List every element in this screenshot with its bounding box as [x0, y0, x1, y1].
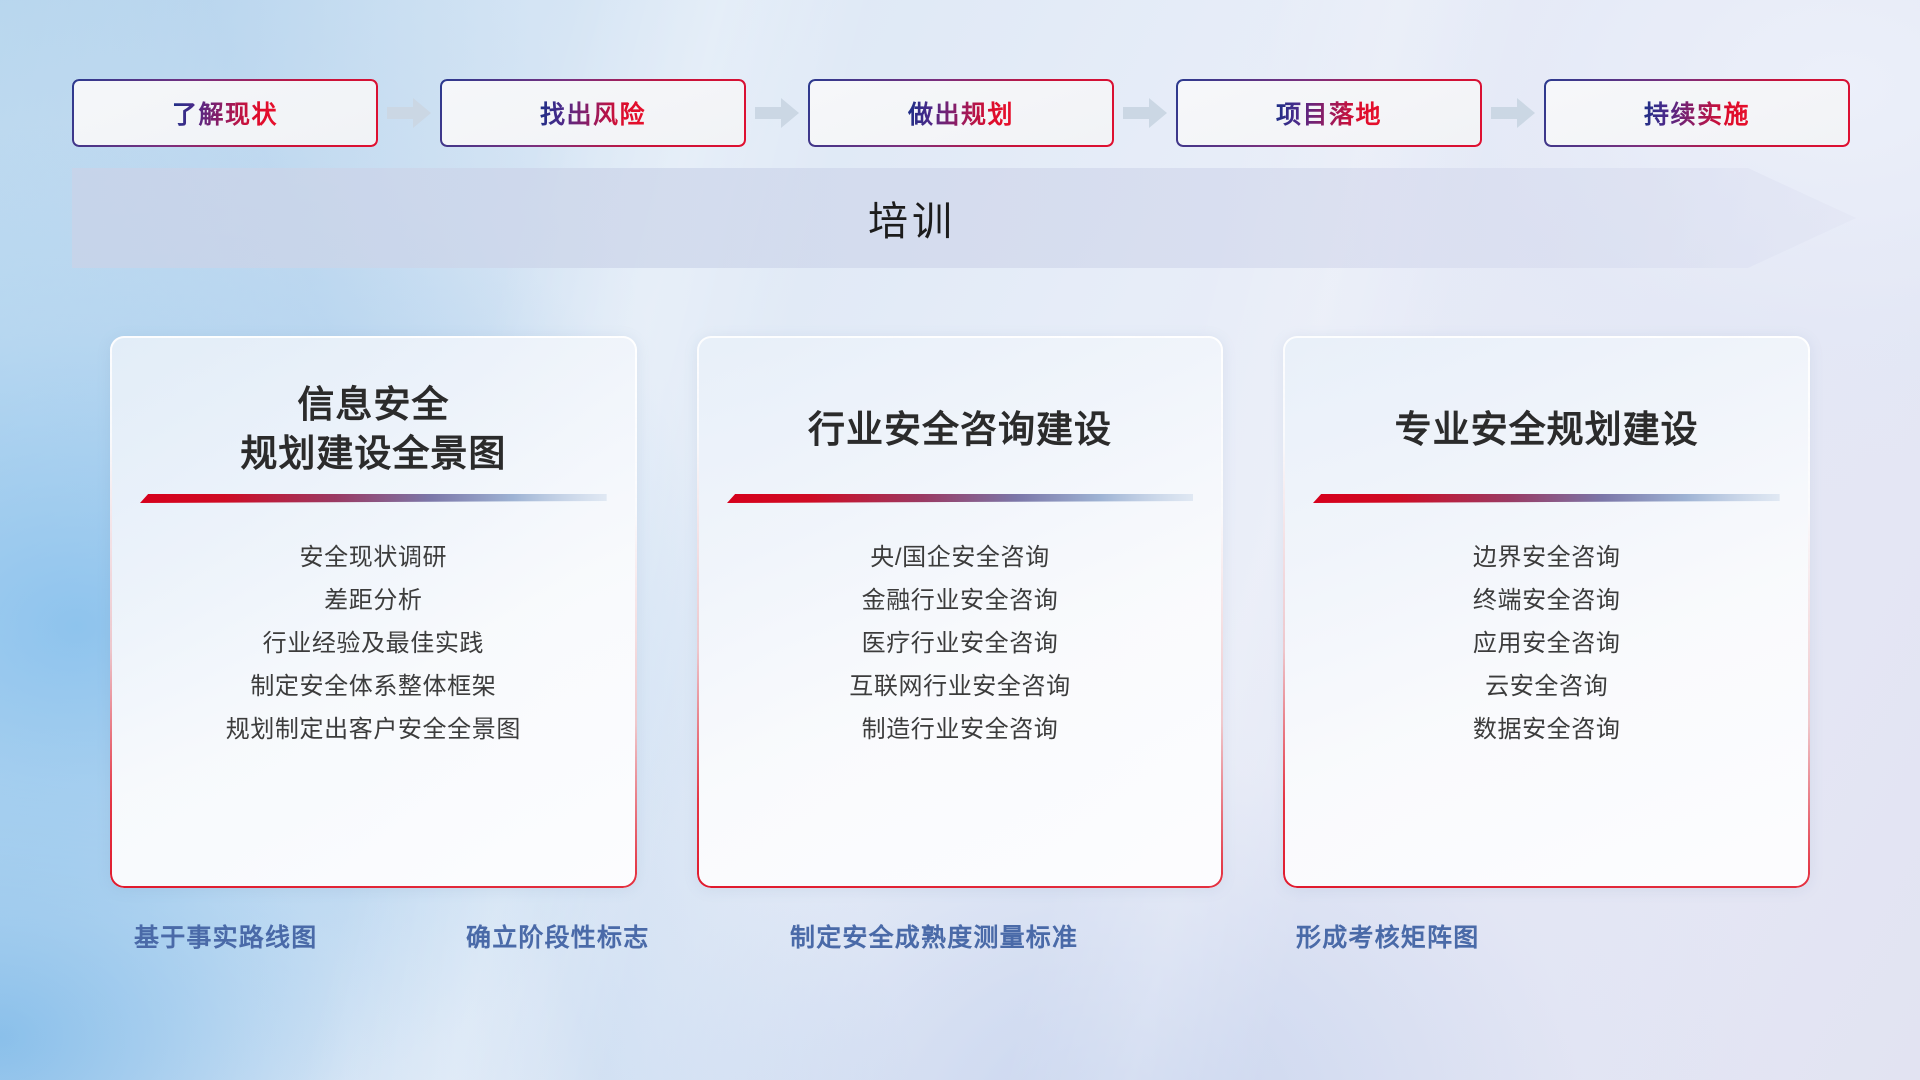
list-item: 制定安全体系整体框架	[250, 665, 496, 708]
card-title: 专业安全规划建设	[1395, 380, 1699, 480]
card-divider	[1313, 490, 1780, 506]
list-item: 边界安全咨询	[1473, 536, 1621, 579]
list-item: 互联网行业安全咨询	[849, 665, 1070, 708]
process-step-label: 项目落地	[1276, 95, 1382, 131]
process-step-4[interactable]: 项目落地	[1176, 79, 1482, 147]
card-divider	[140, 490, 607, 506]
right-arrow-icon	[1114, 98, 1176, 128]
list-item: 金融行业安全咨询	[862, 579, 1059, 622]
list-item: 安全现状调研	[300, 536, 448, 579]
right-arrow-icon	[1482, 98, 1544, 128]
process-step-label: 做出规划	[908, 95, 1014, 131]
process-step-1[interactable]: 了解现状	[72, 79, 378, 147]
list-item: 央/国企安全咨询	[870, 536, 1049, 579]
card-2[interactable]: 行业安全咨询建设	[697, 336, 1224, 888]
list-item: 差距分析	[324, 579, 422, 622]
card-item-list: 边界安全咨询 终端安全咨询 应用安全咨询 云安全咨询 数据安全咨询	[1313, 536, 1780, 751]
card-title: 行业安全咨询建设	[808, 380, 1112, 480]
card-3[interactable]: 专业安全规划建设	[1283, 336, 1810, 888]
list-item: 终端安全咨询	[1473, 579, 1621, 622]
list-item: 医疗行业安全咨询	[862, 622, 1059, 665]
footer-label-1: 基于事实路线图	[134, 918, 317, 954]
slide-canvas: 了解现状 找出风险 做出规划 项目落地	[0, 0, 1920, 1080]
list-item: 云安全咨询	[1485, 665, 1608, 708]
process-step-label: 持续实施	[1644, 95, 1750, 131]
list-item: 行业经验及最佳实践	[263, 622, 484, 665]
banner-title: 培训	[72, 168, 1752, 268]
list-item: 应用安全咨询	[1473, 622, 1621, 665]
process-step-5[interactable]: 持续实施	[1544, 79, 1850, 147]
right-arrow-icon	[378, 98, 440, 128]
process-step-2[interactable]: 找出风险	[440, 79, 746, 147]
footer-label-2: 确立阶段性标志	[466, 918, 649, 954]
list-item: 规划制定出客户安全全景图	[226, 708, 521, 751]
process-step-bar: 了解现状 找出风险 做出规划 项目落地	[72, 78, 1856, 148]
list-item: 制造行业安全咨询	[862, 708, 1059, 751]
card-item-list: 安全现状调研 差距分析 行业经验及最佳实践 制定安全体系整体框架 规划制定出客户…	[140, 536, 607, 751]
card-divider	[727, 490, 1194, 506]
card-group: 信息安全 规划建设全景图	[110, 336, 1810, 888]
process-step-label: 了解现状	[172, 95, 278, 131]
card-item-list: 央/国企安全咨询 金融行业安全咨询 医疗行业安全咨询 互联网行业安全咨询 制造行…	[727, 536, 1194, 751]
card-title: 信息安全 规划建设全景图	[240, 380, 506, 480]
card-1[interactable]: 信息安全 规划建设全景图	[110, 336, 637, 888]
training-banner: 培训	[72, 168, 1856, 268]
footer-label-3: 制定安全成熟度测量标准	[790, 918, 1078, 954]
footer-label-row: 基于事实路线图 确立阶段性标志 制定安全成熟度测量标准 形成考核矩阵图	[0, 918, 1920, 974]
list-item: 数据安全咨询	[1473, 708, 1621, 751]
process-step-label: 找出风险	[540, 95, 646, 131]
footer-label-4: 形成考核矩阵图	[1296, 918, 1479, 954]
right-arrow-icon	[746, 98, 808, 128]
process-step-3[interactable]: 做出规划	[808, 79, 1114, 147]
